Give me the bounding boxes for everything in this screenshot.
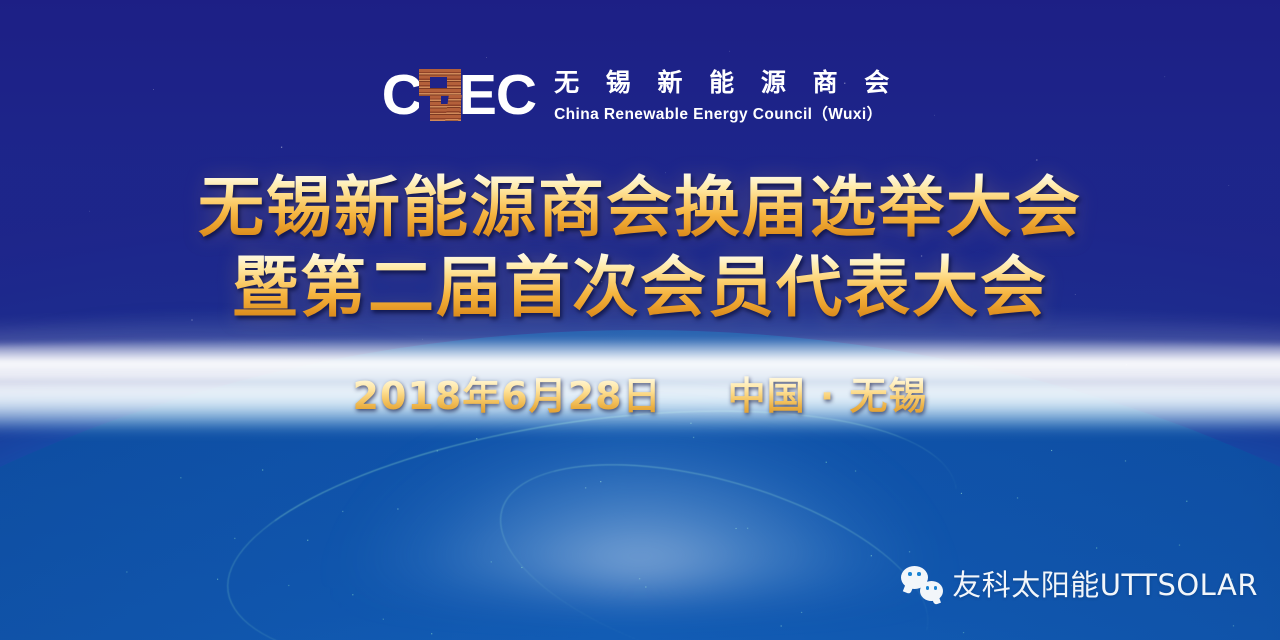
org-name-en: China Renewable Energy Council（Wuxi） (554, 102, 898, 124)
org-name-cn: 无 锡 新 能 源 商 会 (554, 68, 898, 98)
crec-letter-c2: C (496, 67, 536, 124)
wechat-watermark: 友科太阳能UTTSOLAR (901, 562, 1258, 604)
event-meta: 2018年6月28日 中国 · 无锡 (0, 372, 1280, 420)
headline-line-1: 无锡新能源商会换届选举大会 (0, 168, 1280, 248)
crec-logo-text: 无 锡 新 能 源 商 会 China Renewable Energy Cou… (554, 66, 898, 124)
poster-headline: 无锡新能源商会换届选举大会 暨第二届首次会员代表大会 (0, 168, 1280, 328)
event-location: 中国 · 无锡 (728, 372, 928, 420)
crec-letter-c1: C (382, 67, 422, 124)
crec-wordmark: C E C (382, 66, 536, 124)
event-date: 2018年6月28日 (353, 372, 662, 420)
solar-panel-striped-r-icon (419, 69, 461, 121)
wechat-account-name: 友科太阳能UTTSOLAR (952, 562, 1258, 604)
wechat-icon (901, 565, 943, 601)
headline-line-2: 暨第二届首次会员代表大会 (0, 248, 1280, 328)
crec-letter-e: E (459, 67, 496, 124)
conference-poster: C E C 无 锡 新 能 源 商 会 China Renewable Ener… (0, 0, 1280, 640)
crec-logo: C E C 无 锡 新 能 源 商 会 China Renewable Ener… (0, 66, 1280, 124)
